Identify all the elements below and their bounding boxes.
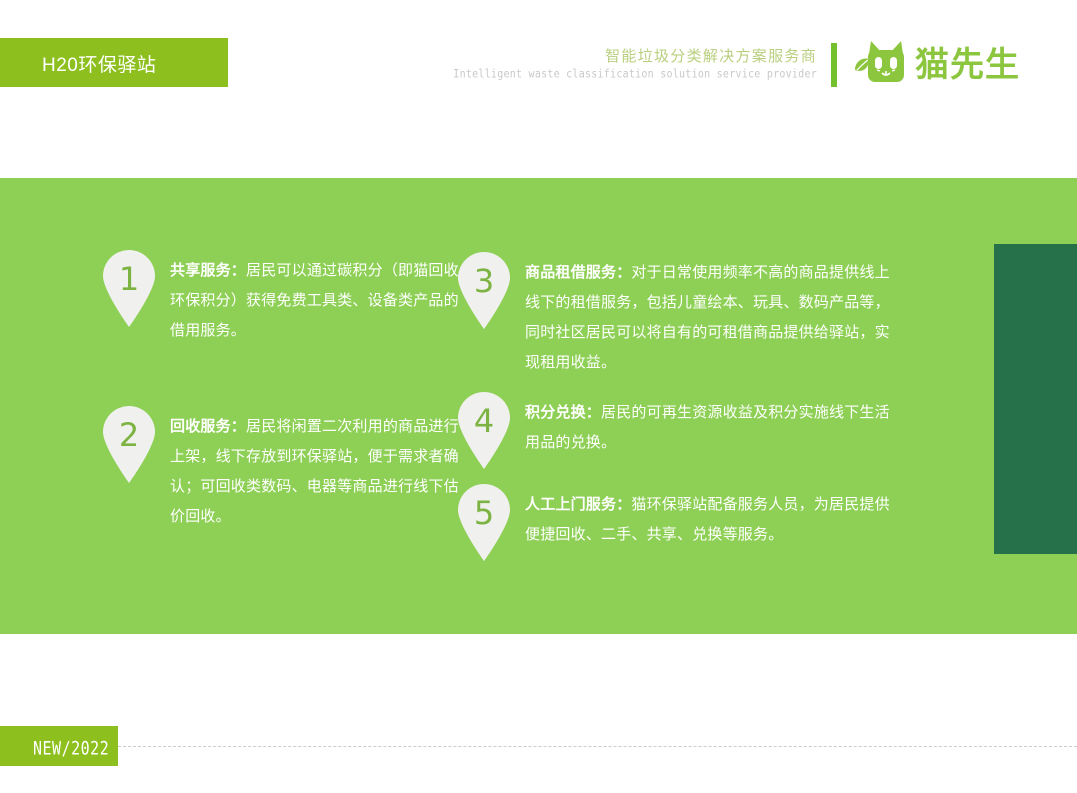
- pin-marker: 1: [100, 248, 158, 328]
- service-item-title: 共享服务：: [170, 262, 246, 279]
- service-item-text: 回收服务：居民将闲置二次利用的商品进行上架，线下存放到环保驿站，便于需求者确认；…: [170, 404, 460, 532]
- service-item: 1 共享服务：居民可以通过碳积分（即猫回收环保积分）获得免费工具类、设备类产品的…: [100, 248, 460, 346]
- service-item-title: 积分兑换：: [525, 404, 601, 421]
- pin-marker: 5: [455, 482, 513, 562]
- pin-marker: 4: [455, 390, 513, 470]
- service-item-title: 回收服务：: [170, 418, 246, 435]
- map-pin-icon: [100, 248, 158, 328]
- service-item-text: 人工上门服务：猫环保驿站配备服务人员，为居民提供便捷回收、二手、共享、兑换等服务…: [525, 482, 895, 550]
- footer-divider: [118, 746, 1077, 747]
- service-item-text: 积分兑换：居民的可再生资源收益及积分实施线下生活用品的兑换。: [525, 390, 895, 458]
- panel-accent-block: [994, 244, 1077, 554]
- service-item: 5 人工上门服务：猫环保驿站配备服务人员，为居民提供便捷回收、二手、共享、兑换等…: [455, 482, 895, 562]
- service-item: 3 商品租借服务：对于日常使用频率不高的商品提供线上线下的租借服务，包括儿童绘本…: [455, 250, 895, 378]
- brand-slogan-group: 智能垃圾分类解决方案服务商 Intelligent waste classifi…: [453, 47, 831, 83]
- service-item-text: 共享服务：居民可以通过碳积分（即猫回收环保积分）获得免费工具类、设备类产品的借用…: [170, 248, 460, 346]
- service-item: 2 回收服务：居民将闲置二次利用的商品进行上架，线下存放到环保驿站，便于需求者确…: [100, 404, 460, 532]
- brand-mark: 猫先生: [853, 40, 1020, 89]
- map-pin-icon: [455, 250, 513, 330]
- page-title: H20环保驿站: [42, 50, 156, 77]
- service-item-title: 商品租借服务：: [525, 264, 631, 281]
- brand-block: 智能垃圾分类解决方案服务商 Intelligent waste classifi…: [453, 40, 1020, 89]
- service-list-left: 1 共享服务：居民可以通过碳积分（即猫回收环保积分）获得免费工具类、设备类产品的…: [100, 248, 460, 532]
- footer-tag-label: NEW/2022: [33, 737, 109, 760]
- service-item: 4 积分兑换：居民的可再生资源收益及积分实施线下生活用品的兑换。: [455, 390, 895, 470]
- brand-divider: [831, 43, 837, 87]
- cat-leaf-logo-icon: [853, 40, 909, 89]
- page-footer: NEW/2022: [0, 726, 1077, 770]
- brand-slogan-cn: 智能垃圾分类解决方案服务商: [453, 47, 817, 67]
- pin-marker: 3: [455, 250, 513, 330]
- brand-slogan-en: Intelligent waste classification solutio…: [453, 65, 817, 83]
- brand-name: 猫先生: [915, 48, 1020, 82]
- pin-marker: 2: [100, 404, 158, 484]
- page-header: H20环保驿站 智能垃圾分类解决方案服务商 Intelligent waste …: [0, 0, 1077, 130]
- map-pin-icon: [455, 390, 513, 470]
- service-item-title: 人工上门服务：: [525, 496, 631, 513]
- map-pin-icon: [455, 482, 513, 562]
- service-list-right: 3 商品租借服务：对于日常使用频率不高的商品提供线上线下的租借服务，包括儿童绘本…: [455, 250, 895, 562]
- map-pin-icon: [100, 404, 158, 484]
- service-item-text: 商品租借服务：对于日常使用频率不高的商品提供线上线下的租借服务，包括儿童绘本、玩…: [525, 250, 895, 378]
